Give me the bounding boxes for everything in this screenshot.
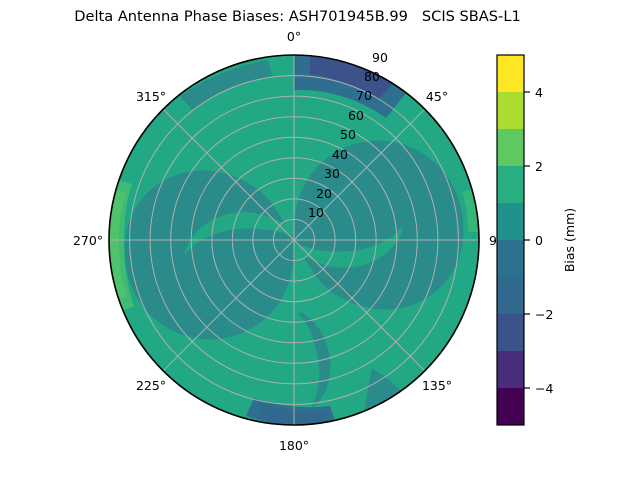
colorbar-band-2 xyxy=(497,314,524,351)
colorbar-band-8 xyxy=(497,92,524,129)
colorbar-axis-label: Bias (mm) xyxy=(562,208,577,272)
colorbar-ticks xyxy=(524,92,530,388)
colorbar-band-7 xyxy=(497,129,524,166)
colorbar-band-4 xyxy=(497,240,524,277)
colorbar-tick-label-neg4: −4 xyxy=(535,381,553,396)
colorbar-band-9 xyxy=(497,55,524,92)
colorbar-band-1 xyxy=(497,351,524,388)
colorbar-band-0 xyxy=(497,388,524,425)
colorbar-band-6 xyxy=(497,166,524,203)
colorbar-tick-label-neg2: −2 xyxy=(535,307,553,322)
colorbar-bands xyxy=(497,55,524,425)
colorbar-tick-labels: 4 2 0 −2 −4 xyxy=(535,85,553,396)
colorbar-band-3 xyxy=(497,277,524,314)
figure-canvas: Delta Antenna Phase Biases: ASH701945B.9… xyxy=(0,0,640,480)
colorbar-tick-label-0: 0 xyxy=(535,233,543,248)
colorbar-tick-label-2: 2 xyxy=(535,159,543,174)
colorbar-band-5 xyxy=(497,203,524,240)
colorbar-tick-label-4: 4 xyxy=(535,85,543,100)
colorbar: 4 2 0 −2 −4 Bias (mm) xyxy=(0,0,640,480)
